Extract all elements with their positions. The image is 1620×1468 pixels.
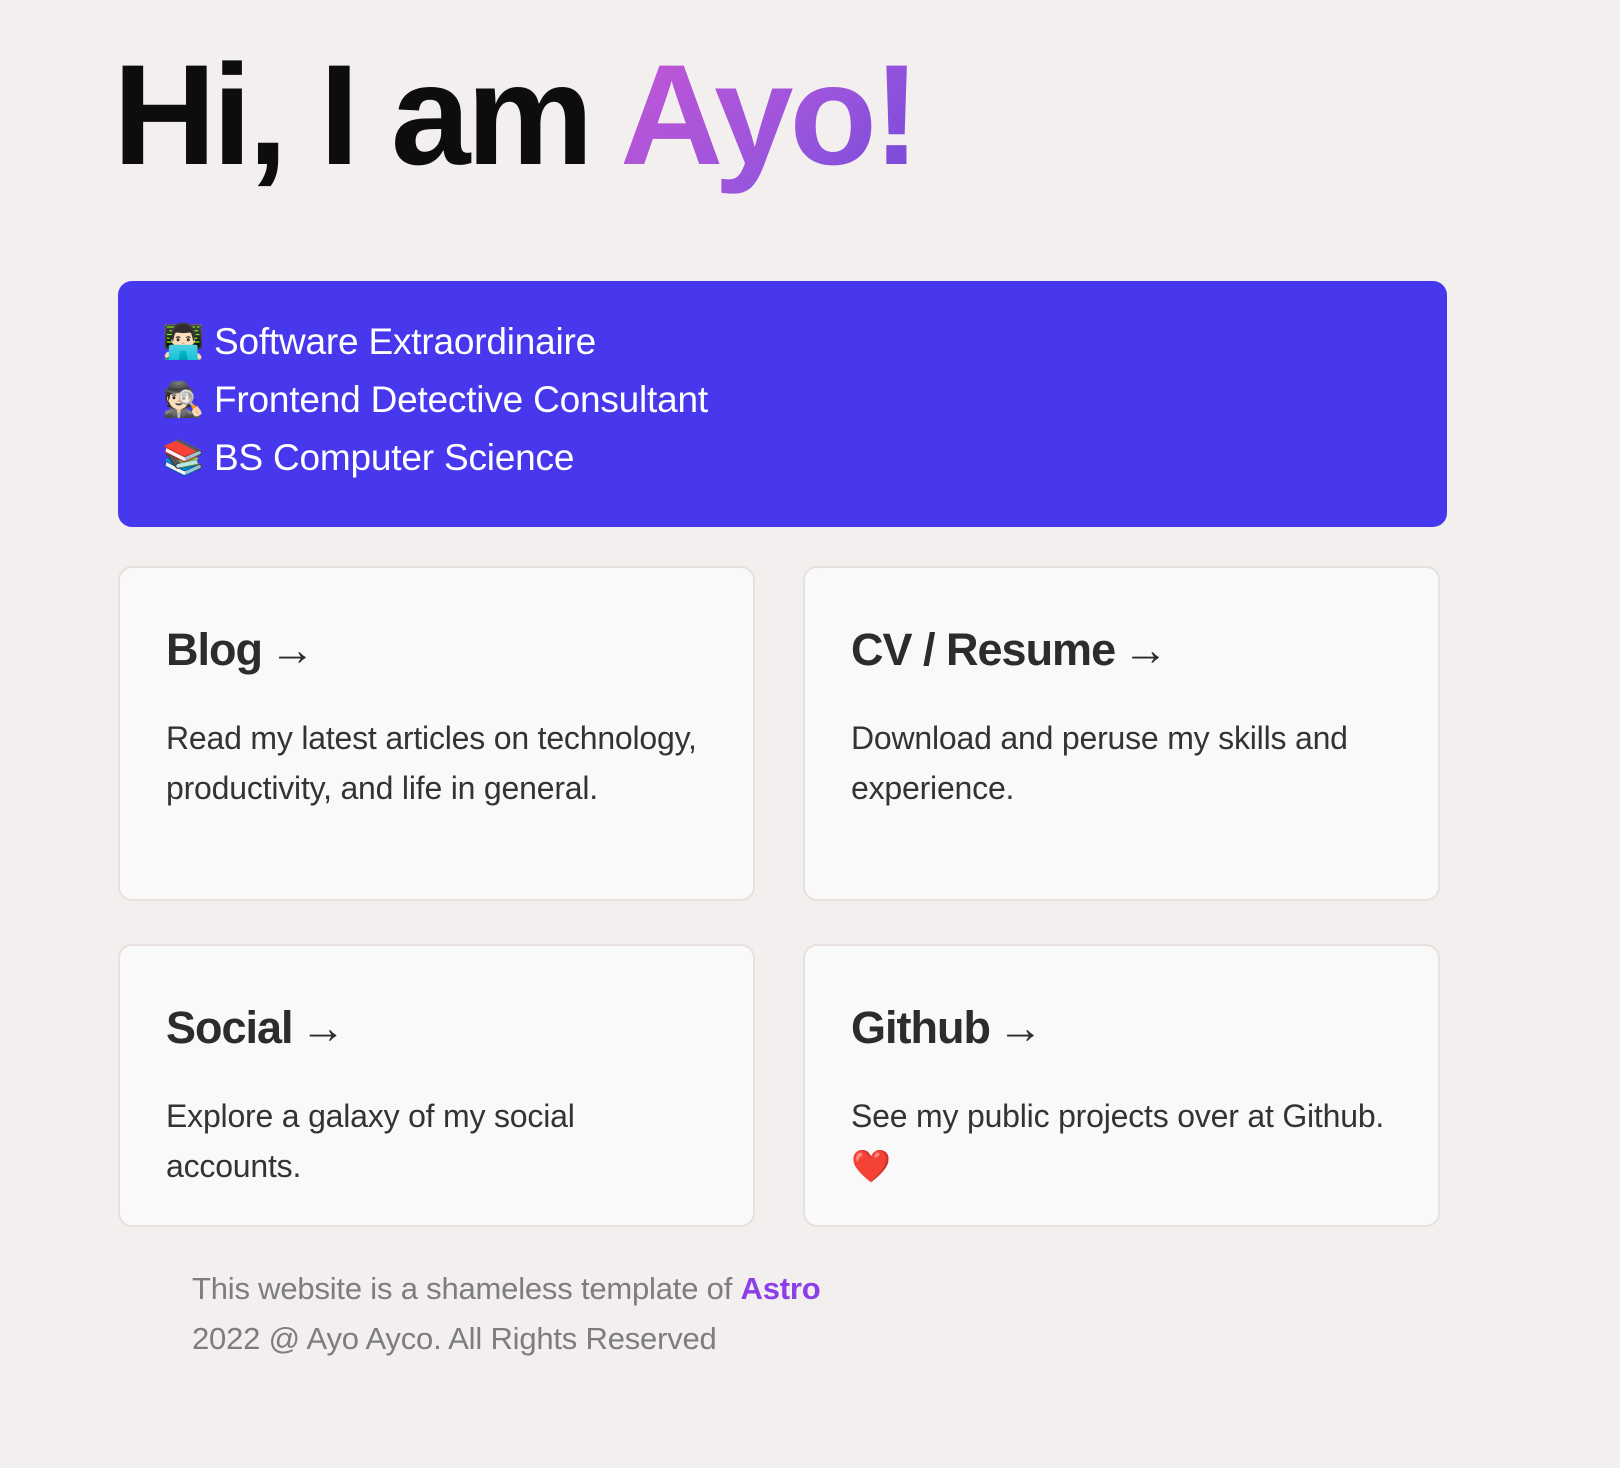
card-title-text: Social xyxy=(166,1002,293,1053)
card-title-text: Blog xyxy=(166,624,262,675)
card-title-blog: Blog→ xyxy=(166,624,707,676)
arrow-right-icon: → xyxy=(1115,624,1167,675)
card-title-social: Social→ xyxy=(166,1002,707,1054)
page-title: Hi, I am Ayo! xyxy=(113,44,917,187)
fact-item-software-extraordinaire: 👨🏻‍💻 Software Extraordinaire xyxy=(162,313,1447,371)
card-body-cv-resume: Download and peruse my skills and experi… xyxy=(851,713,1392,813)
card-social[interactable]: Social→ Explore a galaxy of my social ac… xyxy=(118,944,755,1227)
hero-name-accent: Ayo! xyxy=(620,36,916,195)
card-body-blog: Read my latest articles on technology, p… xyxy=(166,713,707,813)
site-footer: This website is a shameless template of … xyxy=(192,1264,820,1364)
card-body-social: Explore a galaxy of my social accounts. xyxy=(166,1091,707,1191)
facts-panel: 👨🏻‍💻 Software Extraordinaire 🕵🏻 Frontend… xyxy=(118,281,1447,527)
fact-item-frontend-detective-consultant: 🕵🏻 Frontend Detective Consultant xyxy=(162,371,1447,429)
arrow-right-icon: → xyxy=(293,1002,345,1053)
card-cv-resume[interactable]: CV / Resume→ Download and peruse my skil… xyxy=(803,566,1440,901)
footer-credit-line: This website is a shameless template of … xyxy=(192,1264,820,1314)
detective-emoji: 🕵🏻 xyxy=(162,383,200,417)
card-title-cv-resume: CV / Resume→ xyxy=(851,624,1392,676)
footer-copyright-line: 2022 @ Ayo Ayco. All Rights Reserved xyxy=(192,1314,820,1364)
arrow-right-icon: → xyxy=(262,624,314,675)
card-blog[interactable]: Blog→ Read my latest articles on technol… xyxy=(118,566,755,901)
card-title-text: CV / Resume xyxy=(851,624,1115,675)
card-body-github: See my public projects over at Github. ❤… xyxy=(851,1091,1392,1191)
footer-credit-prefix: This website is a shameless template of xyxy=(192,1271,741,1306)
card-title-github: Github→ xyxy=(851,1002,1392,1054)
astro-link[interactable]: Astro xyxy=(741,1271,821,1306)
card-grid: Blog→ Read my latest articles on technol… xyxy=(118,566,1447,1227)
fact-label: BS Computer Science xyxy=(214,429,574,487)
fact-label: Frontend Detective Consultant xyxy=(214,371,708,429)
arrow-right-icon: → xyxy=(990,1002,1042,1053)
man-technologist-emoji: 👨🏻‍💻 xyxy=(162,325,200,359)
hero-greeting: Hi, I am xyxy=(113,36,620,195)
card-title-text: Github xyxy=(851,1002,990,1053)
fact-label: Software Extraordinaire xyxy=(214,313,596,371)
card-github[interactable]: Github→ See my public projects over at G… xyxy=(803,944,1440,1227)
books-emoji: 📚 xyxy=(162,441,200,475)
fact-item-bs-computer-science: 📚 BS Computer Science xyxy=(162,429,1447,487)
facts-list: 👨🏻‍💻 Software Extraordinaire 🕵🏻 Frontend… xyxy=(162,313,1447,487)
page-root: Hi, I am Ayo! 👨🏻‍💻 Software Extraordinai… xyxy=(0,0,1620,1468)
